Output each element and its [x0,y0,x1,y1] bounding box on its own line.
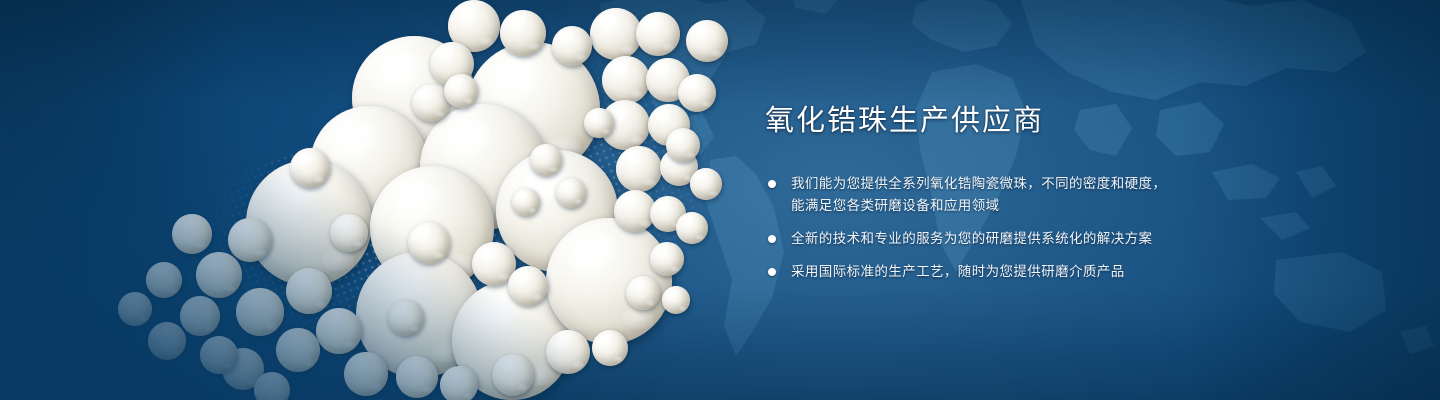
bullet-dot-icon [768,268,776,276]
list-item: 采用国际标准的生产工艺，随时为您提供研磨介质产品 [765,261,1385,283]
list-item-line: 能满足您各类研磨设备和应用领域 [791,195,1385,217]
feature-list: 我们能为您提供全系列氧化锆陶瓷微珠，不同的密度和硬度， 能满足您各类研磨设备和应… [765,173,1385,283]
list-item: 我们能为您提供全系列氧化锆陶瓷微珠，不同的密度和硬度， 能满足您各类研磨设备和应… [765,173,1385,217]
bullet-dot-icon [768,180,776,188]
list-item-line: 我们能为您提供全系列氧化锆陶瓷微珠，不同的密度和硬度， [791,173,1385,195]
list-item: 全新的技术和专业的服务为您的研磨提供系统化的解决方案 [765,228,1385,250]
list-item-line: 采用国际标准的生产工艺，随时为您提供研磨介质产品 [791,261,1385,283]
hero-banner: 氧化锆珠生产供应商 我们能为您提供全系列氧化锆陶瓷微珠，不同的密度和硬度， 能满… [0,0,1440,400]
list-item-line: 全新的技术和专业的服务为您的研磨提供系统化的解决方案 [791,228,1385,250]
bullet-dot-icon [768,235,776,243]
page-title: 氧化锆珠生产供应商 [765,104,1385,139]
banner-copy: 氧化锆珠生产供应商 我们能为您提供全系列氧化锆陶瓷微珠，不同的密度和硬度， 能满… [765,104,1385,283]
